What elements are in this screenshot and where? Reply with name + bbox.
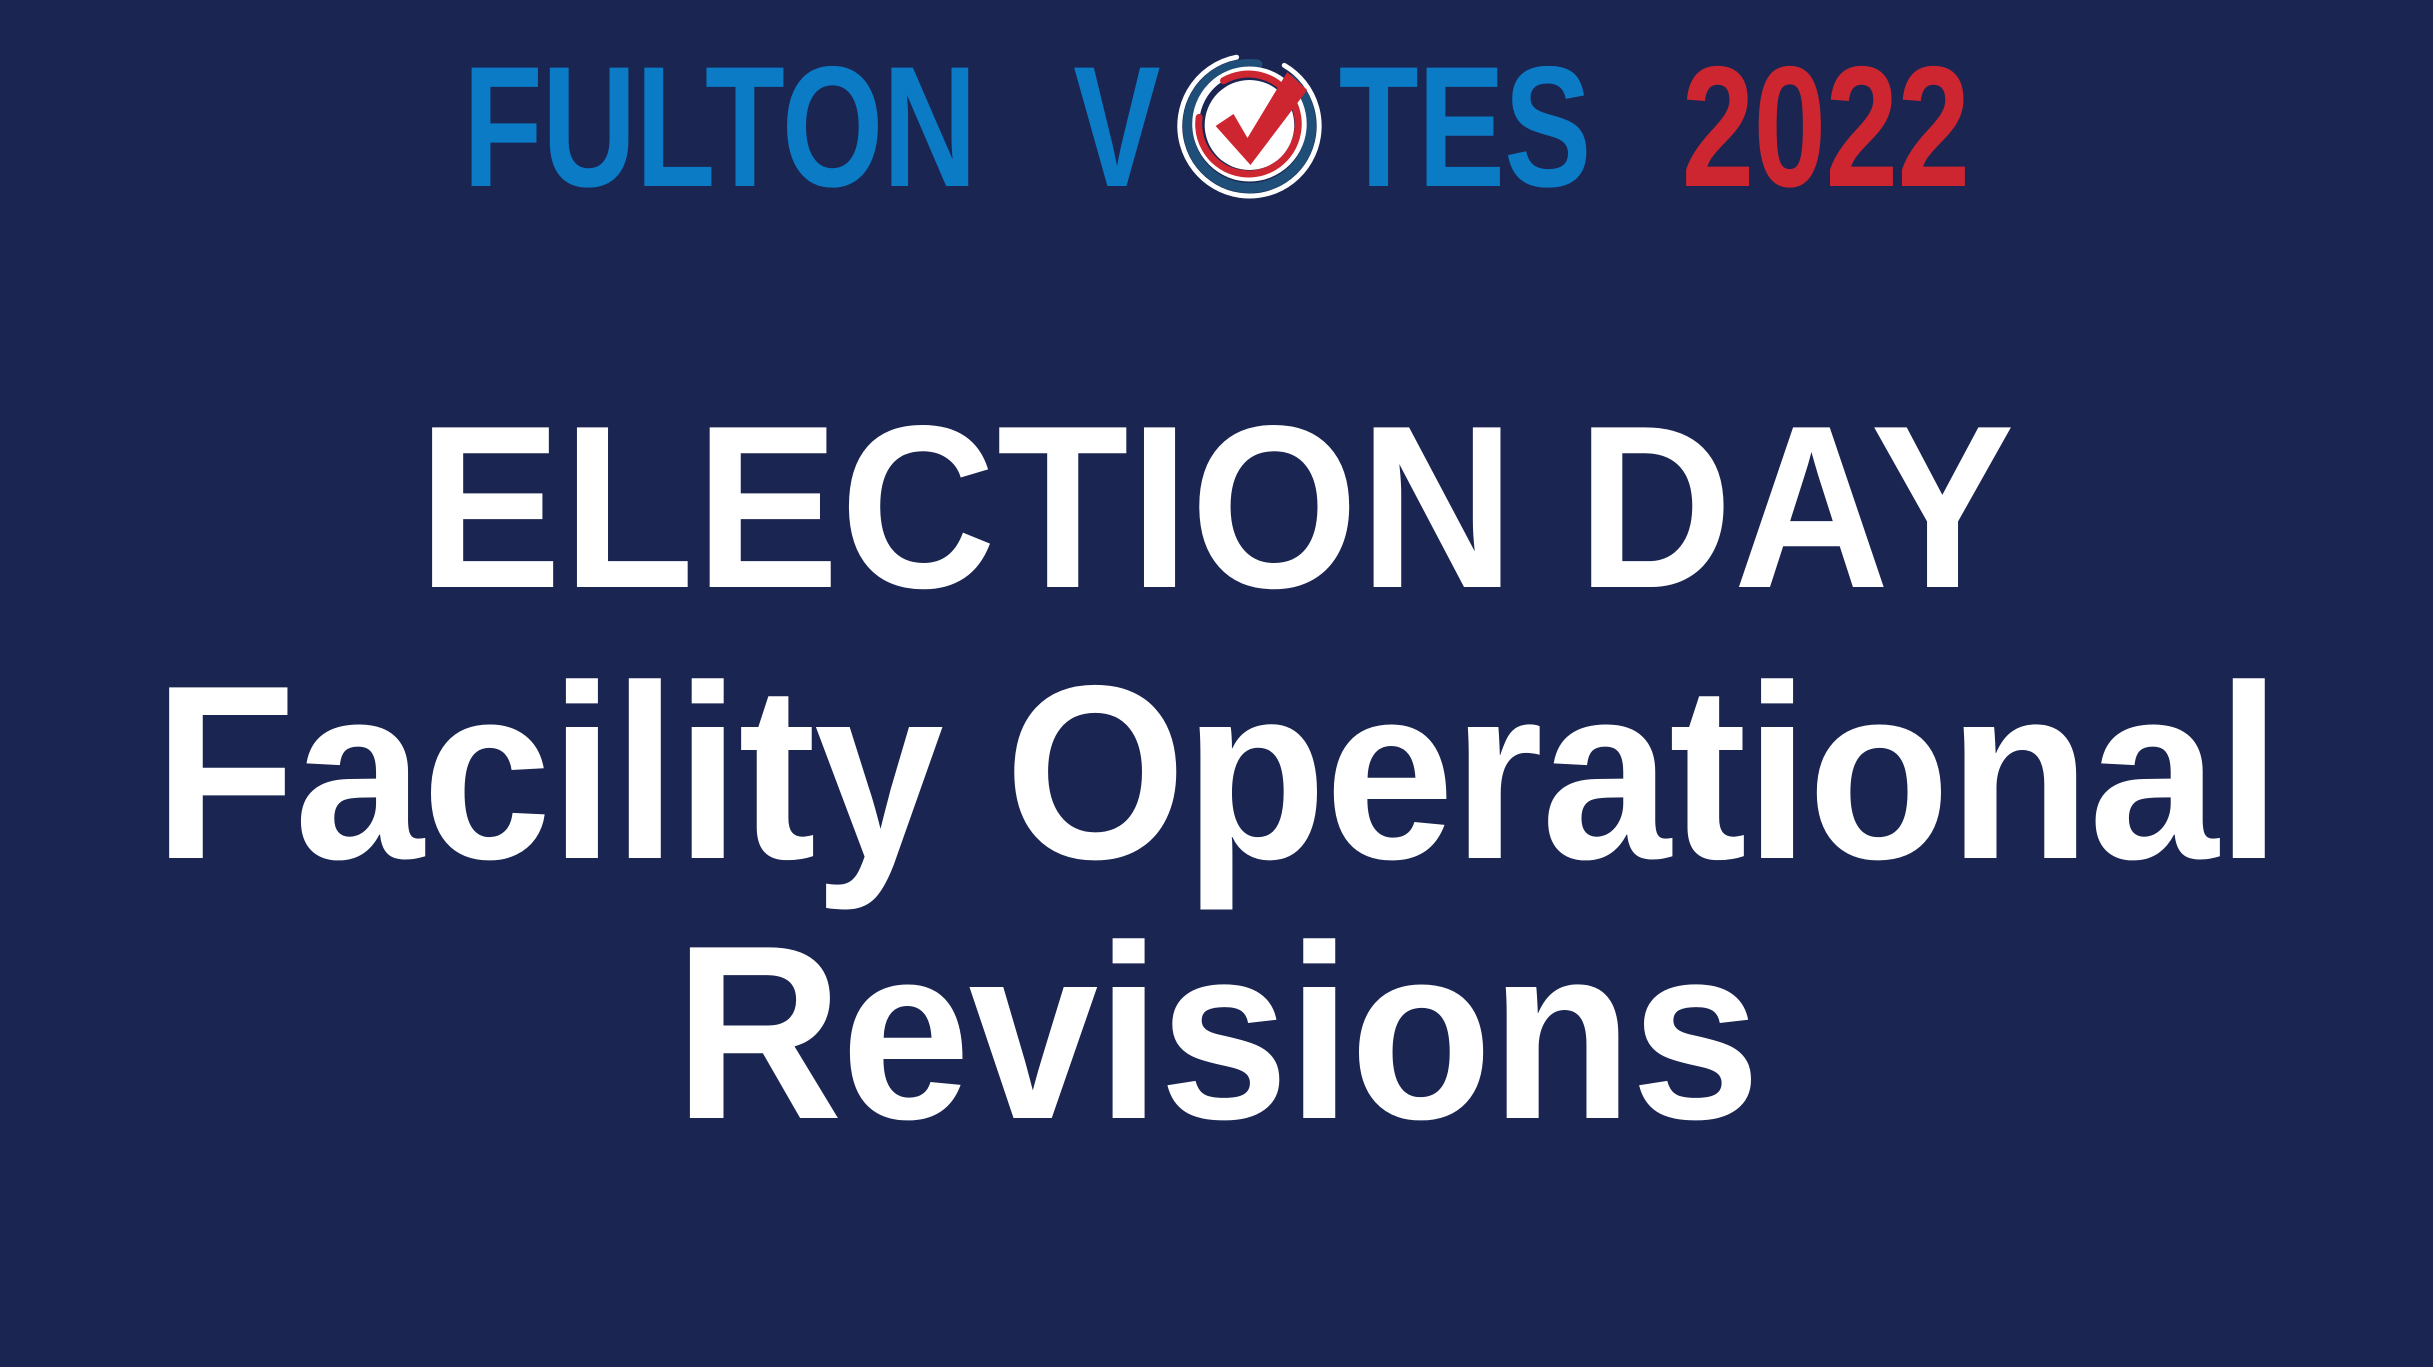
slide-canvas: FULTON V TES xyxy=(0,0,2433,1367)
check-mark-circle-icon xyxy=(1175,50,1324,200)
title-line-one: Facility Operational xyxy=(73,648,2360,896)
logo-text-year: 2022 xyxy=(1682,57,1970,198)
fulton-votes-logo: FULTON V TES xyxy=(0,58,2433,188)
logo-text-tes: TES xyxy=(1339,57,1591,198)
logo-text-fulton: FULTON xyxy=(463,57,976,198)
eyebrow-election-day: ELECTION DAY xyxy=(85,392,2348,624)
title-line-two: Revisions xyxy=(73,908,2360,1156)
logo-text-v: V xyxy=(1074,57,1160,198)
logo-wordmark: FULTON V TES xyxy=(463,44,1969,203)
